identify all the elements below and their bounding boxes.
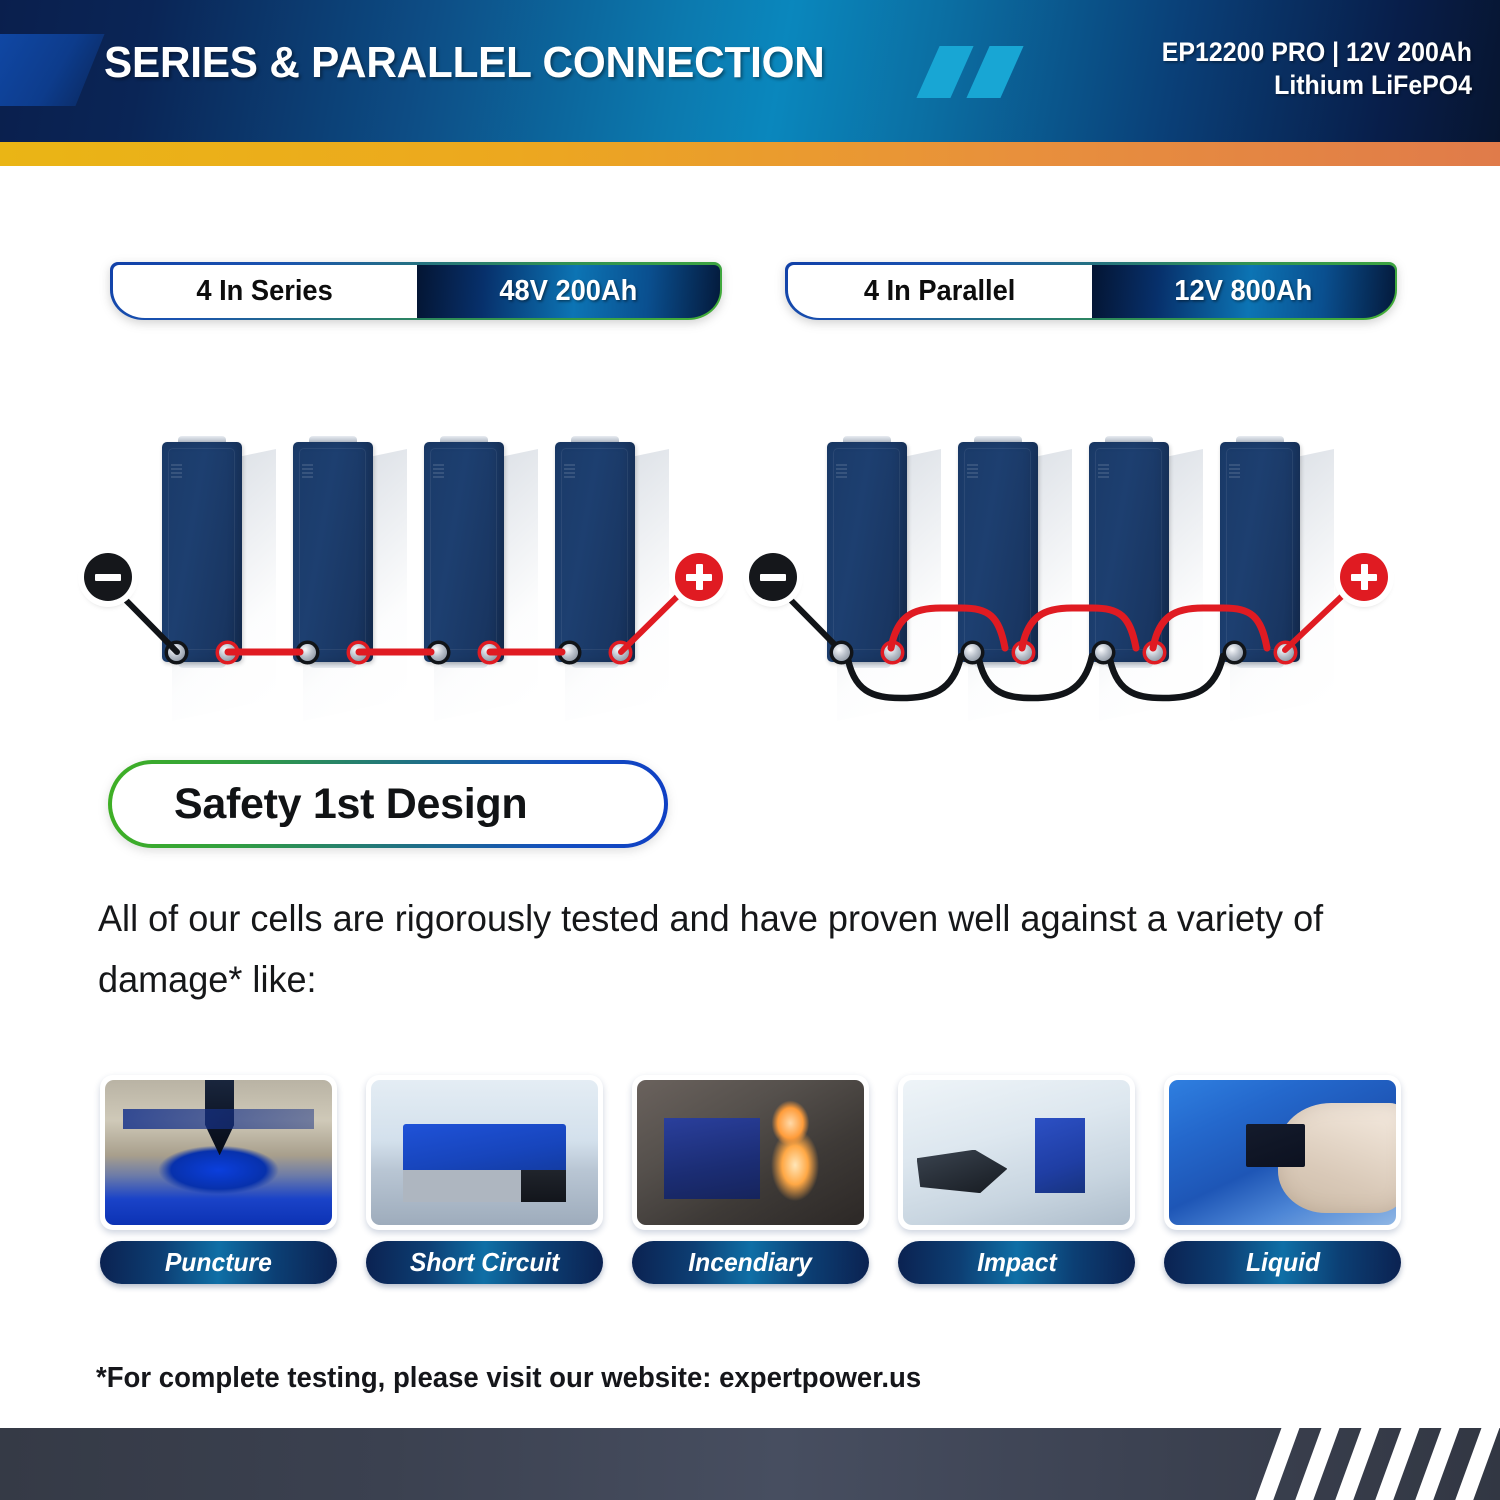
infographic-page: SERIES & PARALLEL CONNECTION EP12200 PRO…	[0, 0, 1500, 1500]
test-label-text: Puncture	[165, 1247, 272, 1278]
test-label-pill: Liquid	[1164, 1241, 1401, 1284]
test-label-text: Short Circuit	[410, 1247, 560, 1278]
safety-body-text: All of our cells are rigorously tested a…	[98, 888, 1346, 1010]
test-card: Incendiary	[632, 1075, 869, 1284]
short-circuit-test-photo	[371, 1080, 598, 1225]
test-label-pill: Incendiary	[632, 1241, 869, 1284]
page-title: SERIES & PARALLEL CONNECTION	[104, 38, 825, 88]
puncture-test-photo	[105, 1080, 332, 1225]
polarity-negative-icon	[84, 553, 132, 601]
test-label-text: Liquid	[1245, 1247, 1319, 1278]
wire-positive-bus-link	[1153, 608, 1267, 648]
polarity-positive-icon	[675, 553, 723, 601]
config-output-parallel: 12V 800Ah	[1174, 275, 1312, 308]
test-card: Liquid	[1164, 1075, 1401, 1284]
footnote-text: *For complete testing, please visit our …	[96, 1362, 921, 1395]
test-card: Short Circuit	[366, 1075, 603, 1284]
config-badge-parallel: 4 In Parallel 12V 800Ah	[785, 262, 1397, 320]
wiring-diagram-series	[80, 430, 740, 720]
test-label-text: Incendiary	[689, 1247, 813, 1278]
header-accent-rule	[0, 142, 1500, 166]
test-card: Puncture	[100, 1075, 337, 1284]
test-label-text: Impact	[977, 1247, 1057, 1278]
header-slash-accent-icon	[922, 46, 1040, 98]
safety-badge: Safety 1st Design	[108, 760, 668, 848]
test-card: Impact	[898, 1075, 1135, 1284]
polarity-negative-icon	[749, 553, 797, 601]
config-output-cell: 12V 800Ah	[1092, 265, 1395, 318]
test-thumbnail	[632, 1075, 869, 1230]
test-thumbnail	[1164, 1075, 1401, 1230]
impact-test-photo	[903, 1080, 1130, 1225]
page-footer	[0, 1428, 1500, 1500]
config-label-parallel: 4 In Parallel	[864, 275, 1016, 308]
product-chemistry: Lithium LiFePO4	[1162, 69, 1472, 102]
polarity-positive-icon	[1340, 553, 1388, 601]
config-output-cell: 48V 200Ah	[417, 265, 720, 318]
test-card-list: Puncture Short Circuit Incendiary	[100, 1075, 1400, 1284]
product-model: EP12200 PRO | 12V 200Ah	[1162, 36, 1472, 69]
config-output-series: 48V 200Ah	[499, 275, 637, 308]
footer-stripe-accent-icon	[1200, 1428, 1500, 1500]
header-parallelogram-accent	[0, 34, 105, 106]
test-thumbnail	[898, 1075, 1135, 1230]
test-label-pill: Short Circuit	[366, 1241, 603, 1284]
config-label-series: 4 In Series	[196, 275, 332, 308]
config-label-cell: 4 In Series	[113, 265, 417, 318]
test-label-pill: Impact	[898, 1241, 1135, 1284]
test-thumbnail	[100, 1075, 337, 1230]
wire-positive-bus-link	[1022, 608, 1136, 648]
test-label-pill: Puncture	[100, 1241, 337, 1284]
product-meta: EP12200 PRO | 12V 200Ah Lithium LiFePO4	[1162, 36, 1472, 103]
liquid-immersion-test-photo	[1169, 1080, 1396, 1225]
config-label-cell: 4 In Parallel	[788, 265, 1092, 318]
safety-badge-label: Safety 1st Design	[174, 780, 527, 829]
wiring-series-wires	[80, 430, 740, 720]
wire-positive-bus-link	[891, 608, 1005, 648]
wiring-parallel-positive-bus	[745, 430, 1405, 720]
incendiary-test-photo	[637, 1080, 864, 1225]
page-header: SERIES & PARALLEL CONNECTION EP12200 PRO…	[0, 0, 1500, 142]
wiring-diagram-parallel	[745, 430, 1405, 720]
config-badge-series: 4 In Series 48V 200Ah	[110, 262, 722, 320]
test-thumbnail	[366, 1075, 603, 1230]
